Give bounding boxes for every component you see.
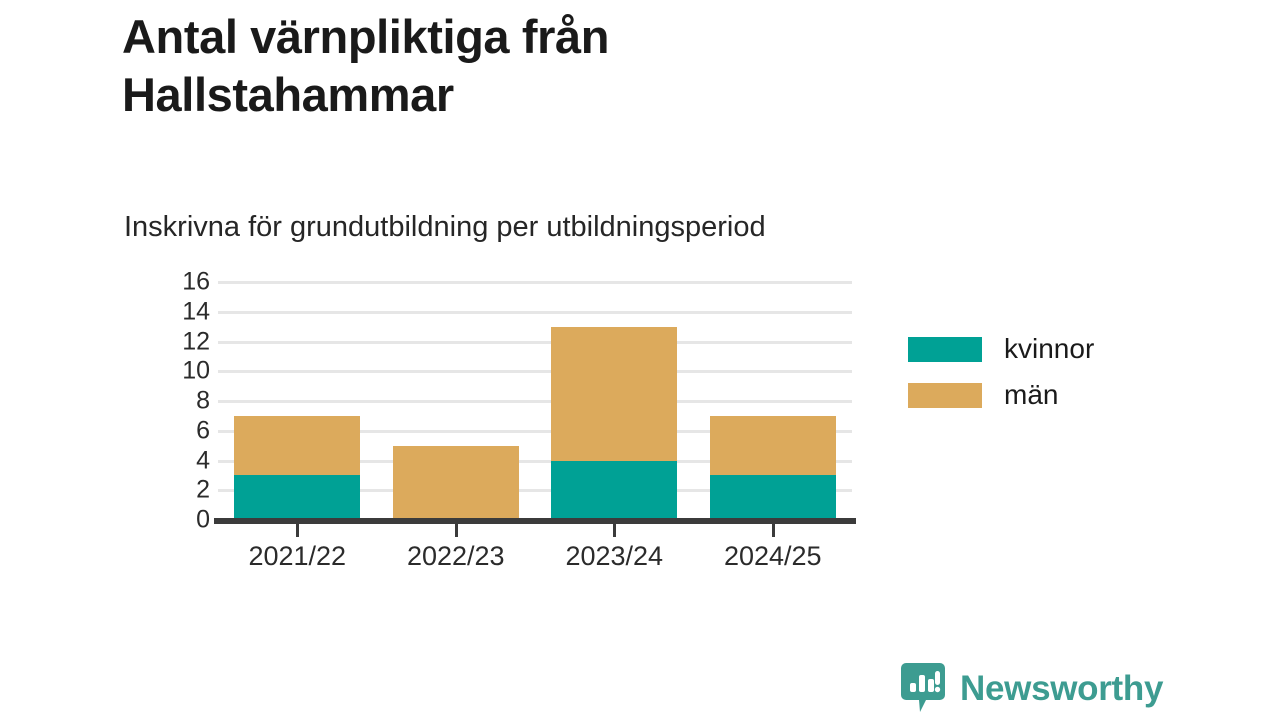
bar-segment-män[interactable] bbox=[710, 416, 836, 476]
bar-segment-män[interactable] bbox=[234, 416, 360, 476]
y-axis: 0246810121416 bbox=[128, 282, 210, 520]
x-tick bbox=[455, 524, 458, 537]
x-tick bbox=[772, 524, 775, 537]
bar-segment-kvinnor[interactable] bbox=[234, 475, 360, 520]
bar-segment-kvinnor[interactable] bbox=[551, 461, 677, 521]
legend-item-män[interactable]: män bbox=[908, 372, 1094, 418]
bar-chart: 0246810121416 2021/222022/232023/242024/… bbox=[128, 282, 868, 532]
y-tick-label: 16 bbox=[128, 270, 210, 295]
x-tick-label: 2024/25 bbox=[683, 540, 863, 572]
page-title: Antal värnpliktiga från Hallstahammar bbox=[122, 8, 882, 124]
newsworthy-wordmark: Newsworthy bbox=[960, 671, 1163, 706]
newsworthy-bubble-chart-icon bbox=[900, 662, 946, 714]
x-tick bbox=[296, 524, 299, 537]
bar-segment-män[interactable] bbox=[393, 446, 519, 520]
bar-group[interactable] bbox=[393, 282, 519, 520]
legend-swatch-icon bbox=[908, 337, 982, 362]
x-axis-line bbox=[214, 518, 856, 524]
bar-group[interactable] bbox=[551, 282, 677, 520]
y-tick-label: 10 bbox=[128, 359, 210, 384]
bar-group[interactable] bbox=[710, 282, 836, 520]
legend-label: kvinnor bbox=[1004, 335, 1094, 363]
bars-container bbox=[218, 282, 852, 520]
y-tick-label: 0 bbox=[128, 508, 210, 533]
bar-segment-män[interactable] bbox=[551, 327, 677, 461]
chart-legend: kvinnormän bbox=[908, 326, 1094, 418]
y-tick-label: 8 bbox=[128, 389, 210, 414]
bar-segment-kvinnor[interactable] bbox=[710, 475, 836, 520]
y-tick-label: 14 bbox=[128, 299, 210, 324]
legend-label: män bbox=[1004, 381, 1058, 409]
y-tick-label: 4 bbox=[128, 448, 210, 473]
x-tick-label: 2023/24 bbox=[524, 540, 704, 572]
x-tick-label: 2022/23 bbox=[366, 540, 546, 572]
x-tick bbox=[613, 524, 616, 537]
legend-item-kvinnor[interactable]: kvinnor bbox=[908, 326, 1094, 372]
y-tick-label: 2 bbox=[128, 478, 210, 503]
legend-swatch-icon bbox=[908, 383, 982, 408]
bar-group[interactable] bbox=[234, 282, 360, 520]
y-tick-label: 6 bbox=[128, 418, 210, 443]
y-tick-label: 12 bbox=[128, 329, 210, 354]
chart-subtitle: Inskrivna för grundutbildning per utbild… bbox=[124, 210, 1084, 245]
newsworthy-logo: Newsworthy bbox=[900, 662, 1163, 714]
x-tick-label: 2021/22 bbox=[207, 540, 387, 572]
